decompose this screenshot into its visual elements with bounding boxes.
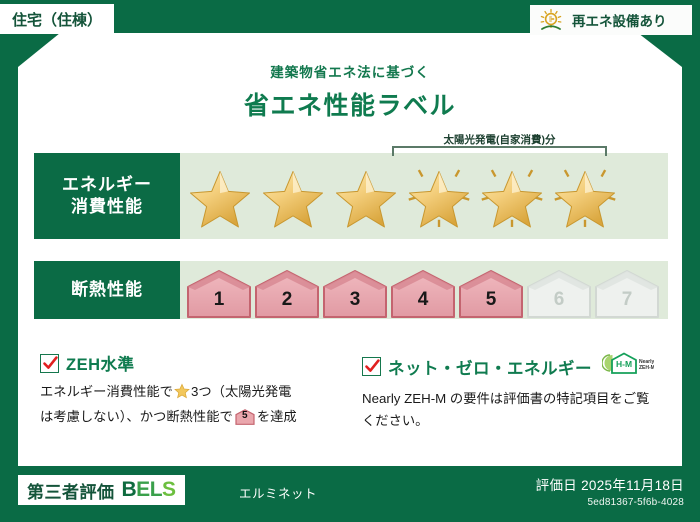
bels-letter-l: L	[150, 478, 162, 501]
zeh-standard-block: ZEH水準 エネルギー消費性能で3つ（太陽光発電は考慮しない）、かつ断熱性能で5…	[40, 351, 340, 431]
net-zero-energy-block: ネット・ゼロ・エネルギー H-M Nearly ZEH-M Nearly ZEH…	[362, 351, 662, 431]
insulation-level-number: 7	[594, 289, 660, 311]
star-6	[549, 159, 621, 233]
renewable-equipment-label: 再エネ設備あり	[572, 10, 667, 30]
svg-text:H-M: H-M	[616, 359, 632, 369]
insulation-performance-body: 1234567	[180, 261, 668, 319]
insulation-level-number: 5	[458, 289, 524, 311]
insulation-performance-label: 断熱性能	[34, 261, 180, 319]
energy-label-line2: 消費性能	[71, 196, 143, 218]
insulation-level-1: 1	[186, 269, 252, 319]
evaluation-id: 5ed81367-5f6b-4028	[536, 497, 684, 508]
insulation-level-number: 1	[186, 289, 252, 311]
bels-energy-label: 住宅（住棟） 再エネ設備あり	[0, 0, 700, 522]
label-card: 建築物省エネ法に基づく 省エネ性能ラベル エネルギー 消費性能 太陽光発電(自家…	[18, 33, 682, 466]
building-type-label: 住宅（住棟）	[12, 9, 102, 30]
net-zero-energy-checkbox	[362, 357, 381, 376]
evaluation-date: 評価日 2025年11月18日	[536, 474, 684, 494]
evaluation-date-value: 2025年11月18日	[581, 478, 684, 493]
bels-letter-e: E	[136, 478, 150, 501]
star-5	[476, 159, 548, 233]
zeh-standard-heading: ZEH水準	[40, 351, 340, 375]
star-4	[403, 159, 475, 233]
insulation-level-2: 2	[254, 269, 320, 319]
insulation-level-5: 5	[458, 269, 524, 319]
svg-text:ZEH-M: ZEH-M	[639, 365, 654, 371]
insulation-level-number: 6	[526, 289, 592, 311]
solar-annotation-text: 太陽光発電(自家消費)分	[392, 132, 607, 147]
star-2	[257, 159, 329, 233]
building-type-tag: 住宅（住棟）	[0, 4, 114, 34]
insulation-level-7: 7	[594, 269, 660, 319]
criteria-info: ZEH水準 エネルギー消費性能で3つ（太陽光発電は考慮しない）、かつ断熱性能で5…	[40, 351, 662, 431]
bels-subtitle: エルミネット	[239, 483, 317, 502]
zeh-standard-checkbox	[40, 354, 59, 373]
insulation-level-3: 3	[322, 269, 388, 319]
label-header: 建築物省エネ法に基づく 省エネ性能ラベル	[18, 61, 682, 122]
star-3	[330, 159, 402, 233]
zeh-standard-body: エネルギー消費性能で3つ（太陽光発電は考慮しない）、かつ断熱性能で5を達成	[40, 381, 340, 427]
energy-star-rating	[180, 159, 668, 233]
zeh-body-part1: エネルギー消費性能で	[40, 384, 173, 399]
energy-performance-label: エネルギー 消費性能	[34, 153, 180, 239]
page-title: 省エネ性能ラベル	[18, 86, 682, 122]
insulation-level-number: 3	[322, 289, 388, 311]
energy-performance-body: 太陽光発電(自家消費)分	[180, 153, 668, 239]
bels-wordmark: BELS	[122, 478, 176, 502]
insulation-label-text: 断熱性能	[71, 279, 143, 301]
insulation-level-6: 6	[526, 269, 592, 319]
bels-logo-box: 第三者評価 BELS	[18, 475, 185, 505]
header-subtitle: 建築物省エネ法に基づく	[18, 61, 682, 81]
net-zero-energy-heading: ネット・ゼロ・エネルギー H-M Nearly ZEH-M	[362, 351, 662, 382]
insulation-level-4: 4	[390, 269, 456, 319]
insulation-level-number: 2	[254, 289, 320, 311]
star-1	[184, 159, 256, 233]
renewable-equipment-badge: 再エネ設備あり	[530, 5, 692, 35]
energy-performance-row: エネルギー 消費性能 太陽光発電(自家消費)分	[34, 153, 668, 239]
insulation-level-scale: 1234567	[180, 261, 660, 319]
evaluation-date-label: 評価日	[536, 478, 577, 493]
net-zero-energy-body: Nearly ZEH-M の要件は評価書の特記項目をご覧ください。	[362, 388, 662, 431]
label-footer: 第三者評価 BELS エルミネット 評価日 2025年11月18日 5ed813…	[0, 466, 700, 522]
zeh-body-part2: 3つ（太陽光発電	[191, 384, 291, 399]
bels-letter-b: B	[122, 478, 137, 501]
inline-house-icon: 5	[235, 409, 255, 425]
zeh-standard-title: ZEH水準	[66, 351, 135, 375]
evaluation-meta: 評価日 2025年11月18日 5ed81367-5f6b-4028	[536, 474, 684, 508]
insulation-performance-row: 断熱性能 1234567	[34, 261, 668, 319]
insulation-level-number: 4	[390, 289, 456, 311]
inline-star-icon	[174, 387, 190, 402]
bels-letter-s: S	[162, 478, 176, 501]
zeh-body-part4: を達成	[257, 409, 297, 424]
net-zero-energy-title: ネット・ゼロ・エネルギー	[388, 355, 592, 379]
solar-sun-icon	[538, 8, 566, 32]
solar-annotation-bracket	[392, 146, 607, 156]
zeh-body-part3: は考慮しない）、かつ断熱性能で	[40, 409, 233, 424]
zeh-m-logo: H-M Nearly ZEH-M	[602, 351, 654, 382]
energy-label-line1: エネルギー	[62, 174, 152, 196]
third-party-eval-label: 第三者評価	[27, 478, 115, 503]
inline-house-value: 5	[235, 411, 255, 421]
